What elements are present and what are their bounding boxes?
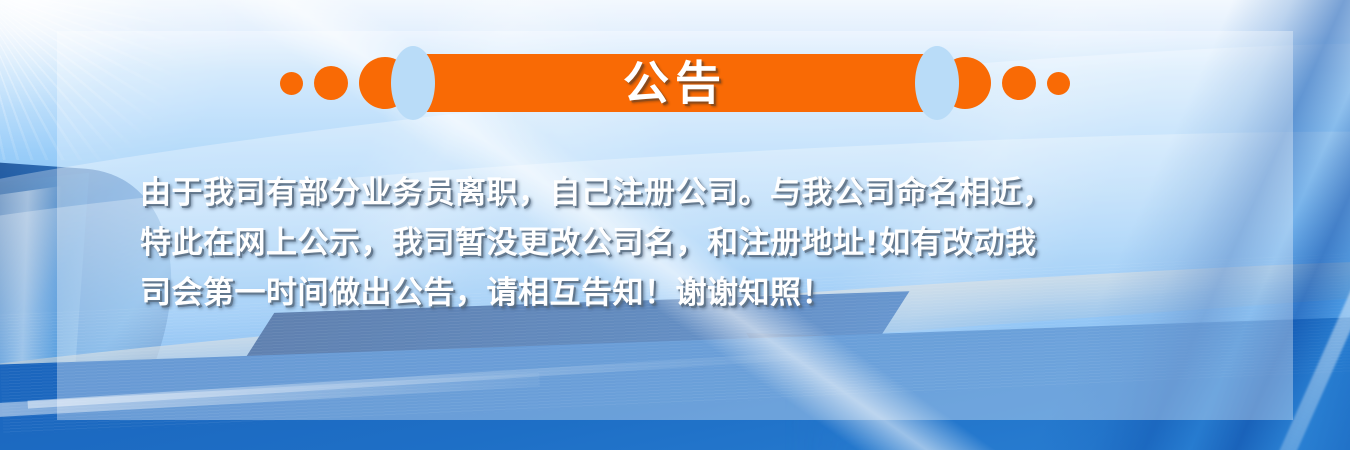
page-title: 公告: [623, 60, 727, 106]
notice-body: 由于我司有部分业务员离职，自己注册公司。与我公司命名相近， 特此在网上公示，我司…: [140, 168, 1225, 318]
ribbon-notch-right-icon: [915, 46, 959, 120]
notice-line: 司会第一时间做出公告，请相互告知！谢谢知照！: [140, 268, 1225, 318]
ribbon-notch-left-icon: [391, 46, 435, 120]
small-dot-icon: [1047, 72, 1070, 95]
medium-dot-icon: [314, 66, 348, 100]
medium-dot-icon: [1002, 66, 1036, 100]
notice-line: 由于我司有部分业务员离职，自己注册公司。与我公司命名相近，: [140, 168, 1225, 218]
title-banner: 公告: [0, 52, 1350, 114]
small-dot-icon: [280, 72, 303, 95]
notice-line: 特此在网上公示，我司暂没更改公司名，和注册地址!如有改动我: [140, 218, 1225, 268]
announcement-banner: 公告 由于我司有部分业务员离职，自己注册公司。与我公司命名相近， 特此在网上公示…: [0, 0, 1350, 450]
title-ribbon: 公告: [415, 54, 935, 112]
